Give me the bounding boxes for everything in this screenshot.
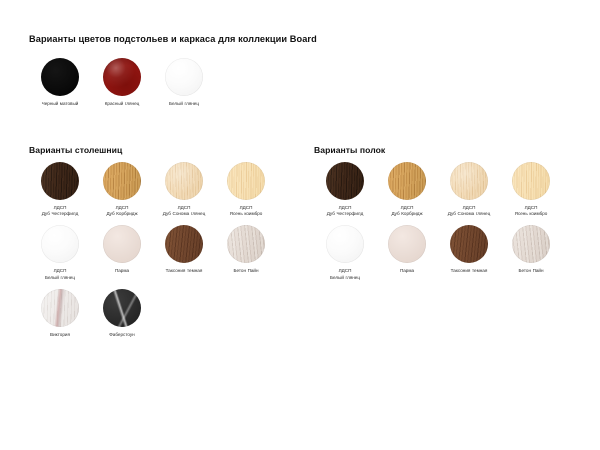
swatch-label-main: ЛДСП	[401, 205, 414, 210]
swatch-item[interactable]: ЛДСПБелый глянец	[314, 225, 376, 280]
section-shelves: Варианты полок ЛДСПДуб ЧестерфилдЛДСПДуб…	[314, 145, 574, 289]
swatch-label: Парма	[376, 268, 438, 274]
swatch-label: ЛДСПБелый глянец	[314, 268, 376, 280]
swatch-label-sub: Ясень коимбро	[215, 211, 277, 217]
swatch-grid-shelves: ЛДСПДуб ЧестерфилдЛДСПДуб КорбриджЛДСПДу…	[314, 162, 574, 289]
swatch-grid-frame: Черный матовыйКрасный глянецБелый глянец	[29, 58, 289, 115]
swatch-label: Парма	[91, 268, 153, 274]
swatch-label-main: Черный матовый	[42, 101, 79, 106]
swatch-color-черный-матовый[interactable]	[41, 58, 79, 96]
swatch-color-дуб-сонома-глянец[interactable]	[450, 162, 488, 200]
swatch-item[interactable]: Белый глянец	[153, 58, 215, 107]
swatch-item[interactable]: Черный матовый	[29, 58, 91, 107]
swatch-label-main: Виктория	[50, 332, 70, 337]
swatch-label: Красный глянец	[91, 101, 153, 107]
swatch-color-белый-глянец[interactable]	[165, 58, 203, 96]
section-tabletops: Варианты столешниц ЛДСПДуб ЧестерфилдЛДС…	[29, 145, 289, 346]
swatch-label: ЛДСПДуб Честерфилд	[314, 205, 376, 217]
swatch-label: Бетон Пайн	[215, 268, 277, 274]
swatch-color-бетон-пайн[interactable]	[512, 225, 550, 263]
swatch-item[interactable]: Красный глянец	[91, 58, 153, 107]
swatch-label: Белый глянец	[153, 101, 215, 107]
section-tabletops-heading-row: Варианты столешниц	[29, 145, 289, 162]
swatch-label-main: ЛДСП	[525, 205, 538, 210]
swatch-color-парма[interactable]	[388, 225, 426, 263]
section-heading-shelves: Варианты полок	[314, 145, 574, 155]
swatch-color-дуб-честерфилд[interactable]	[326, 162, 364, 200]
swatch-label: Виктория	[29, 332, 91, 338]
swatch-label: ЛДСПЯсень коимбро	[215, 205, 277, 217]
swatch-color-фаберстоун[interactable]	[103, 289, 141, 327]
swatch-label: ЛДСПДуб Корбридж	[376, 205, 438, 217]
swatch-item[interactable]: ЛДСПЯсень коимбро	[215, 162, 277, 217]
swatch-label-sub: Ясень коимбро	[500, 211, 562, 217]
swatch-label: ЛДСПЯсень коимбро	[500, 205, 562, 217]
swatch-color-парма[interactable]	[103, 225, 141, 263]
swatch-color-таксония-темная[interactable]	[165, 225, 203, 263]
swatch-label-sub: Белый глянец	[314, 275, 376, 281]
swatch-label: ЛДСПДуб Корбридж	[91, 205, 153, 217]
swatch-label-main: Парма	[115, 268, 129, 273]
swatch-grid-tabletops: ЛДСПДуб ЧестерфилдЛДСПДуб КорбриджЛДСПДу…	[29, 162, 289, 346]
swatch-color-ясень-коимбро[interactable]	[227, 162, 265, 200]
page-title: Варианты цветов подстольев и каркаса для…	[29, 34, 317, 44]
swatch-label: ЛДСПБелый глянец	[29, 268, 91, 280]
swatch-color-ясень-коимбро[interactable]	[512, 162, 550, 200]
swatch-label-main: ЛДСП	[339, 205, 352, 210]
swatch-item[interactable]: ЛДСПДуб Корбридж	[91, 162, 153, 217]
color-options-sheet: Варианты цветов подстольев и каркаса для…	[0, 0, 600, 450]
section-shelves-heading-row: Варианты полок	[314, 145, 574, 162]
swatch-color-виктория[interactable]	[41, 289, 79, 327]
swatch-item[interactable]: ЛДСПДуб Честерфилд	[29, 162, 91, 217]
swatch-label-sub: Дуб Корбридж	[376, 211, 438, 217]
swatch-label-sub: Дуб Сонома глянец	[153, 211, 215, 217]
swatch-color-дуб-сонома-глянец[interactable]	[165, 162, 203, 200]
swatch-label-main: ЛДСП	[339, 268, 352, 273]
swatch-item[interactable]: Виктория	[29, 289, 91, 338]
swatch-label: ЛДСПДуб Сонома глянец	[153, 205, 215, 217]
swatch-label: ЛДСПДуб Сонома глянец	[438, 205, 500, 217]
swatch-label-sub: Белый глянец	[29, 275, 91, 281]
swatch-label: ЛДСПДуб Честерфилд	[29, 205, 91, 217]
swatch-item[interactable]: ЛДСПДуб Сонома глянец	[438, 162, 500, 217]
swatch-label-sub: Дуб Честерфилд	[314, 211, 376, 217]
swatch-color-таксония-темная[interactable]	[450, 225, 488, 263]
swatch-label-main: ЛДСП	[178, 205, 191, 210]
section-frame-colors: Черный матовыйКрасный глянецБелый глянец	[29, 58, 289, 115]
swatch-color-дуб-корбридж[interactable]	[103, 162, 141, 200]
swatch-item[interactable]: Бетон Пайн	[215, 225, 277, 280]
swatch-label-sub: Дуб Честерфилд	[29, 211, 91, 217]
swatch-color-красный-глянец[interactable]	[103, 58, 141, 96]
swatch-label-main: Белый глянец	[169, 101, 199, 106]
swatch-label-main: ЛДСП	[240, 205, 253, 210]
swatch-item[interactable]: Фаберстоун	[91, 289, 153, 338]
swatch-label-sub: Дуб Корбридж	[91, 211, 153, 217]
swatch-label: Бетон Пайн	[500, 268, 562, 274]
swatch-label: Таксония темная	[438, 268, 500, 274]
swatch-item[interactable]: Парма	[91, 225, 153, 280]
swatch-label-main: Таксония темная	[451, 268, 488, 273]
swatch-label-main: ЛДСП	[116, 205, 129, 210]
swatch-label-main: Бетон Пайн	[518, 268, 543, 273]
swatch-item[interactable]: Бетон Пайн	[500, 225, 562, 280]
swatch-label-main: Таксония темная	[166, 268, 203, 273]
swatch-color-бетон-пайн[interactable]	[227, 225, 265, 263]
swatch-item[interactable]: ЛДСПДуб Сонома глянец	[153, 162, 215, 217]
swatch-color-белый-глянец[interactable]	[326, 225, 364, 263]
swatch-label-main: Фаберстоун	[109, 332, 134, 337]
swatch-color-дуб-корбридж[interactable]	[388, 162, 426, 200]
swatch-item[interactable]: Таксония темная	[153, 225, 215, 280]
swatch-color-дуб-честерфилд[interactable]	[41, 162, 79, 200]
swatch-label: Черный матовый	[29, 101, 91, 107]
swatch-item[interactable]: ЛДСПДуб Честерфилд	[314, 162, 376, 217]
section-heading-tabletops: Варианты столешниц	[29, 145, 289, 155]
swatch-label-sub: Дуб Сонома глянец	[438, 211, 500, 217]
swatch-label: Таксония темная	[153, 268, 215, 274]
swatch-label-main: ЛДСП	[54, 268, 67, 273]
swatch-label-main: Парма	[400, 268, 414, 273]
swatch-item[interactable]: Таксония темная	[438, 225, 500, 280]
swatch-label-main: Красный глянец	[105, 101, 140, 106]
swatch-item[interactable]: ЛДСПЯсень коимбро	[500, 162, 562, 217]
swatch-item[interactable]: ЛДСПДуб Корбридж	[376, 162, 438, 217]
swatch-item[interactable]: Парма	[376, 225, 438, 280]
swatch-label-main: ЛДСП	[54, 205, 67, 210]
swatch-label-main: ЛДСП	[463, 205, 476, 210]
swatch-label-main: Бетон Пайн	[233, 268, 258, 273]
swatch-item[interactable]: ЛДСПБелый глянец	[29, 225, 91, 280]
swatch-label: Фаберстоун	[91, 332, 153, 338]
swatch-color-белый-глянец[interactable]	[41, 225, 79, 263]
